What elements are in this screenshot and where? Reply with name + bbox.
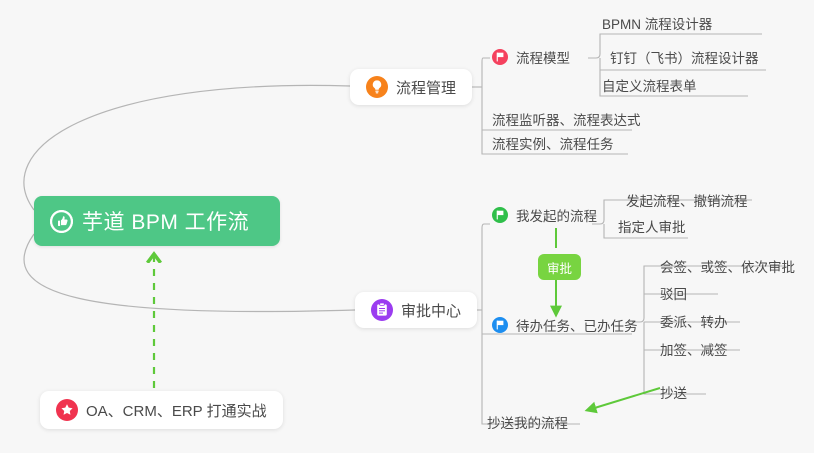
node-countersign-orsign-sequential-label: 会签、或签、依次审批 xyxy=(660,256,795,276)
node-process-model-label: 流程模型 xyxy=(516,47,570,67)
flag-icon xyxy=(492,49,508,65)
mindmap-canvas: 芋道 BPM 工作流 流程管理 流程模型 BPMN 流程设计器 钉钉（飞书）流程… xyxy=(0,0,814,453)
node-bpmn-designer[interactable]: BPMN 流程设计器 xyxy=(602,11,712,37)
node-my-initiated-processes-label: 我发起的流程 xyxy=(516,205,597,225)
approval-badge[interactable]: 审批 xyxy=(538,254,581,280)
node-approval-center-label: 审批中心 xyxy=(401,300,461,321)
node-process-model[interactable]: 流程模型 xyxy=(492,45,570,71)
node-bpmn-designer-label: BPMN 流程设计器 xyxy=(602,13,712,33)
flag-icon xyxy=(492,317,508,333)
node-dingtalk-feishu-designer-label: 钉钉（飞书）流程设计器 xyxy=(610,47,759,67)
node-add-remove-sign[interactable]: 加签、减签 xyxy=(660,337,728,363)
root-label: 芋道 BPM 工作流 xyxy=(82,206,249,236)
node-cc[interactable]: 抄送 xyxy=(660,380,687,406)
node-process-instance-task[interactable]: 流程实例、流程任务 xyxy=(492,131,614,157)
node-cc-label: 抄送 xyxy=(660,382,687,402)
node-start-cancel-process[interactable]: 发起流程、撤销流程 xyxy=(626,188,748,214)
root-node[interactable]: 芋道 BPM 工作流 xyxy=(34,196,280,246)
star-icon xyxy=(56,399,78,421)
node-cc-to-me-processes[interactable]: 抄送我的流程 xyxy=(487,410,568,436)
node-reject-label: 驳回 xyxy=(660,283,687,303)
node-my-initiated-processes[interactable]: 我发起的流程 xyxy=(492,203,597,229)
flag-icon xyxy=(492,207,508,223)
node-dingtalk-feishu-designer[interactable]: 钉钉（飞书）流程设计器 xyxy=(610,45,759,71)
node-process-management[interactable]: 流程管理 xyxy=(350,69,472,105)
node-custom-process-form-label: 自定义流程表单 xyxy=(602,75,697,95)
node-integration-practice-label: OA、CRM、ERP 打通实战 xyxy=(86,400,267,421)
lightbulb-icon xyxy=(366,76,388,98)
approval-badge-label: 审批 xyxy=(547,258,572,277)
node-custom-process-form[interactable]: 自定义流程表单 xyxy=(602,73,697,99)
node-add-remove-sign-label: 加签、减签 xyxy=(660,339,728,359)
edge-root-to-process-management xyxy=(24,85,350,210)
node-process-listener-expression[interactable]: 流程监听器、流程表达式 xyxy=(492,107,641,133)
node-todo-done-tasks[interactable]: 待办任务、已办任务 xyxy=(492,313,638,339)
node-delegate-transfer[interactable]: 委派、转办 xyxy=(660,309,728,335)
clipboard-icon xyxy=(371,299,393,321)
thumbs-up-icon xyxy=(50,210,73,233)
node-assignee-approval[interactable]: 指定人审批 xyxy=(618,214,686,240)
node-integration-practice[interactable]: OA、CRM、ERP 打通实战 xyxy=(40,391,283,429)
node-process-instance-task-label: 流程实例、流程任务 xyxy=(492,133,614,153)
node-process-management-label: 流程管理 xyxy=(396,77,456,98)
node-approval-center[interactable]: 审批中心 xyxy=(355,292,477,328)
node-cc-to-me-processes-label: 抄送我的流程 xyxy=(487,412,568,432)
node-start-cancel-process-label: 发起流程、撤销流程 xyxy=(626,190,748,210)
node-reject[interactable]: 驳回 xyxy=(660,281,687,307)
arrow-cc-to-cc-my-processes xyxy=(588,388,660,410)
node-assignee-approval-label: 指定人审批 xyxy=(618,216,686,236)
node-todo-done-tasks-label: 待办任务、已办任务 xyxy=(516,315,638,335)
node-countersign-orsign-sequential[interactable]: 会签、或签、依次审批 xyxy=(660,254,795,280)
node-delegate-transfer-label: 委派、转办 xyxy=(660,311,728,331)
node-process-listener-expression-label: 流程监听器、流程表达式 xyxy=(492,109,641,129)
